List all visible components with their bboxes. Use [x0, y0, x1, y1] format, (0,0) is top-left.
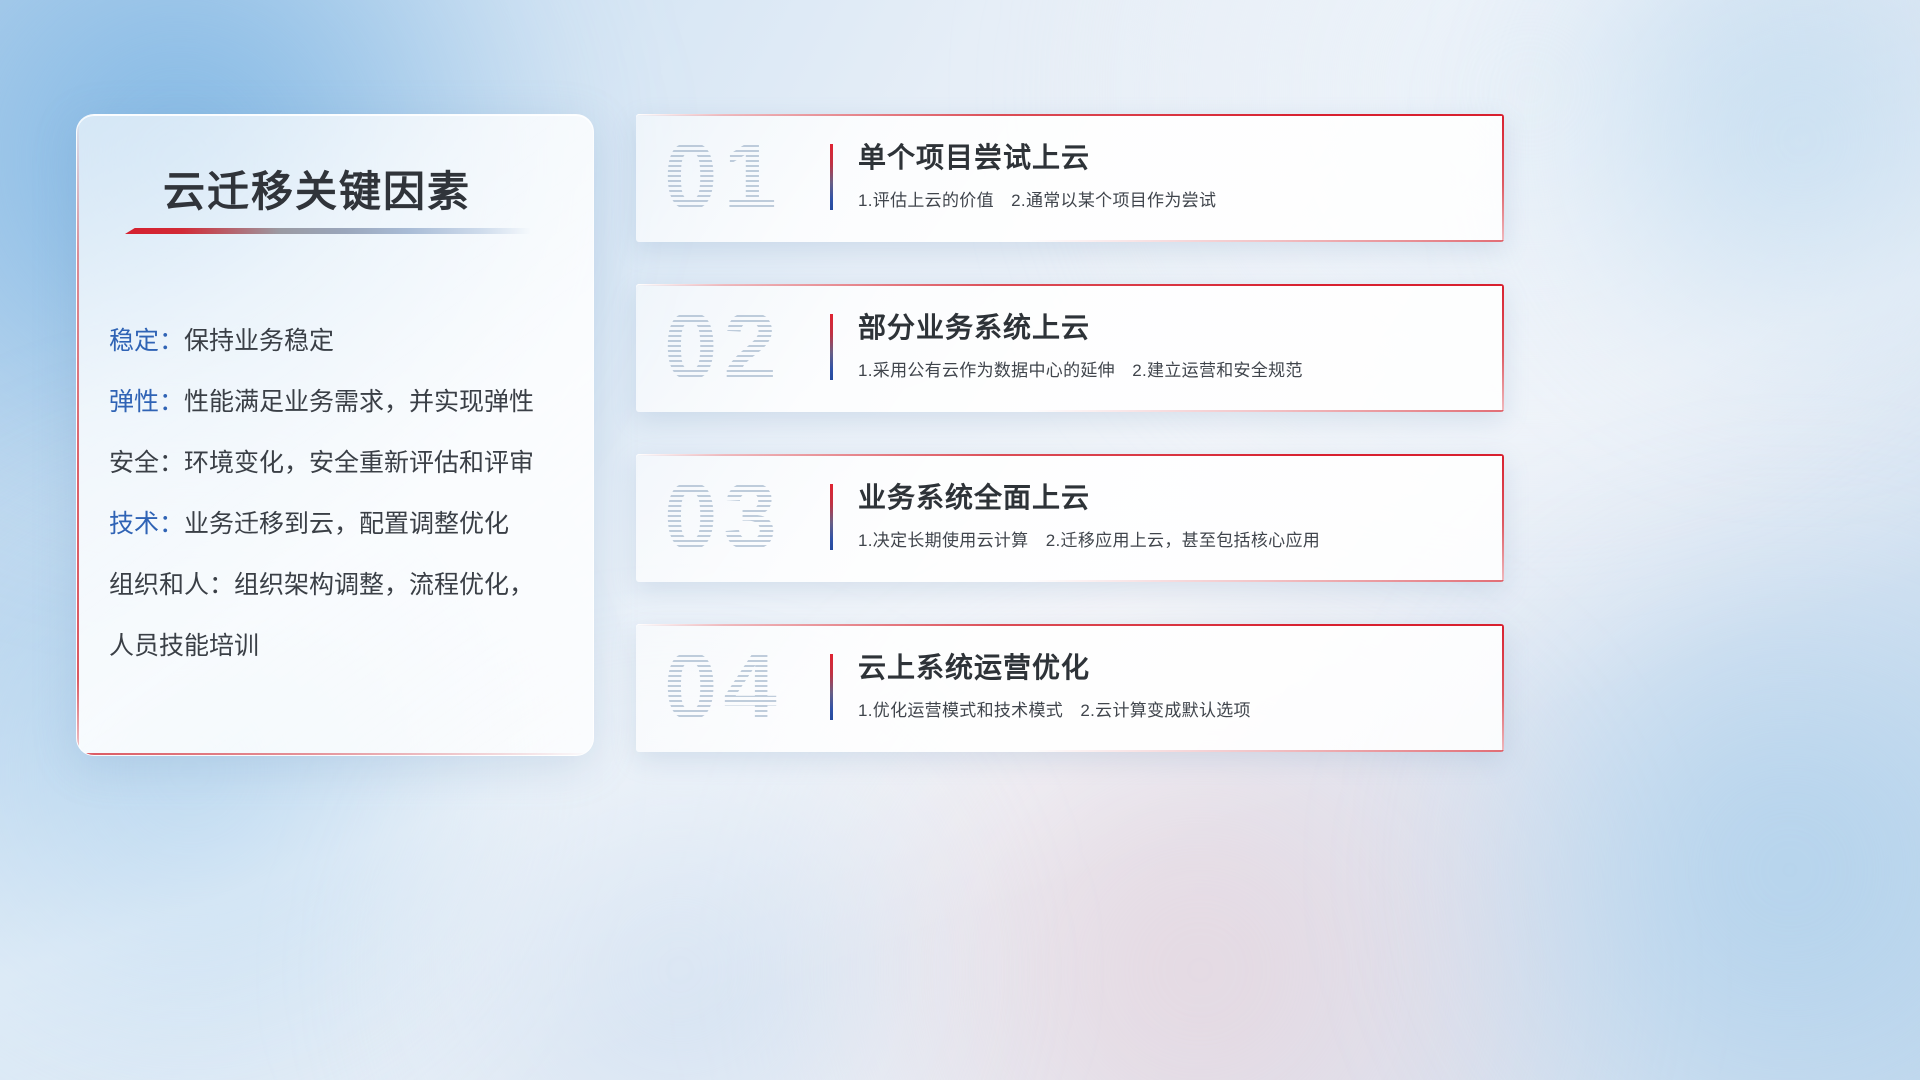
stage-title: 部分业务系统上云 — [858, 306, 1090, 346]
stage-number-watermark: 01 — [664, 114, 783, 242]
stage-card[interactable]: 04 云上系统运营优化 1.优化运营模式和技术模式 2.云计算变成默认选项 — [636, 624, 1504, 752]
card-right-accent — [1502, 454, 1504, 582]
card-right-accent — [1502, 624, 1504, 752]
factor-key: 稳定： — [109, 327, 184, 355]
page-title: 云迁移关键因素 — [163, 158, 471, 219]
factor-list: 稳定：保持业务稳定 弹性：性能满足业务需求，并实现弹性 安全：环境变化，安全重新… — [109, 311, 575, 677]
stage-description: 1.优化运营模式和技术模式 2.云计算变成默认选项 — [858, 696, 1251, 721]
factor-item: 技术：业务迁移到云，配置调整优化 — [109, 494, 575, 555]
card-right-accent — [1502, 284, 1504, 412]
stage-number-watermark: 03 — [664, 454, 783, 582]
factor-key: 技术： — [109, 510, 184, 538]
factor-value: 环境变化，安全重新评估和评审 — [184, 449, 534, 477]
stage-description: 1.决定长期使用云计算 2.迁移应用上云，甚至包括核心应用 — [858, 526, 1320, 551]
stage-description: 1.采用公有云作为数据中心的延伸 2.建立运营和安全规范 — [858, 356, 1303, 381]
stage-title: 单个项目尝试上云 — [858, 136, 1090, 176]
stage-number-watermark: 04 — [664, 624, 783, 752]
card-accent-bar — [830, 654, 833, 720]
factor-value: 性能满足业务需求，并实现弹性 — [184, 388, 534, 416]
factor-item: 安全：环境变化，安全重新评估和评审 — [109, 433, 575, 494]
card-accent-bar — [830, 144, 833, 210]
factor-item: 稳定：保持业务稳定 — [109, 311, 575, 372]
stage-number-watermark: 02 — [664, 284, 783, 412]
factor-value: 业务迁移到云，配置调整优化 — [184, 510, 509, 538]
stage-title: 业务系统全面上云 — [858, 476, 1090, 516]
card-accent-bar — [830, 314, 833, 380]
factor-key: 组织和人： — [109, 571, 234, 599]
factor-item-continuation: 人员技能培训 — [109, 616, 575, 677]
panel-left-accent — [77, 115, 79, 755]
stage-card[interactable]: 01 单个项目尝试上云 1.评估上云的价值 2.通常以某个项目作为尝试 — [636, 114, 1504, 242]
stage-card[interactable]: 02 部分业务系统上云 1.采用公有云作为数据中心的延伸 2.建立运营和安全规范 — [636, 284, 1504, 412]
factor-key: 安全： — [109, 449, 184, 477]
factor-value: 组织架构调整，流程优化， — [234, 571, 534, 599]
factor-value: 保持业务稳定 — [184, 327, 334, 355]
stage-card[interactable]: 03 业务系统全面上云 1.决定长期使用云计算 2.迁移应用上云，甚至包括核心应… — [636, 454, 1504, 582]
stage-description: 1.评估上云的价值 2.通常以某个项目作为尝试 — [858, 186, 1216, 211]
stage-title: 云上系统运营优化 — [858, 646, 1090, 686]
key-factors-panel: 云迁移关键因素 稳定：保持业务稳定 弹性：性能满足业务需求，并实现弹性 安全：环… — [76, 114, 594, 756]
stage-card-list: 01 单个项目尝试上云 1.评估上云的价值 2.通常以某个项目作为尝试 02 部… — [636, 114, 1504, 794]
panel-bottom-accent — [77, 753, 593, 755]
card-right-accent — [1502, 114, 1504, 242]
factor-item: 弹性：性能满足业务需求，并实现弹性 — [109, 372, 575, 433]
factor-item: 组织和人：组织架构调整，流程优化， — [109, 555, 575, 616]
factor-key: 弹性： — [109, 388, 184, 416]
factor-value: 人员技能培训 — [109, 632, 259, 660]
title-underline-gradient — [125, 228, 531, 234]
card-accent-bar — [830, 484, 833, 550]
